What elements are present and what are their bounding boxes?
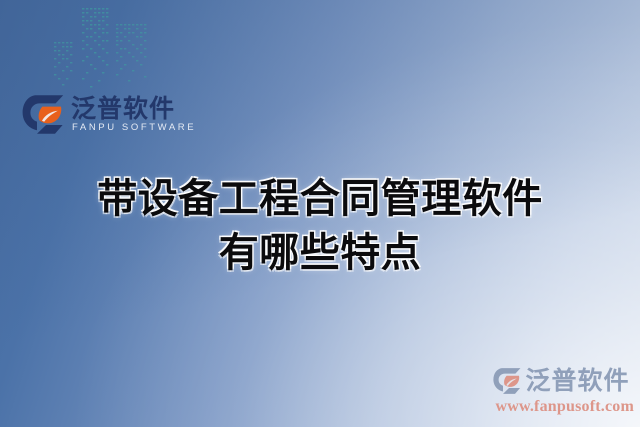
fanpu-logo-icon bbox=[493, 367, 521, 395]
watermark-name-cn: 泛普软件 bbox=[525, 369, 629, 394]
watermark: 泛普软件 www.fanpusoft.com bbox=[493, 367, 634, 415]
brand-text-block: 泛普软件 FANPU SOFTWARE bbox=[71, 96, 196, 133]
brand-name-en: FANPU SOFTWARE bbox=[71, 123, 196, 133]
brand-name-cn: 泛普软件 bbox=[71, 96, 196, 122]
brand-logo-lockup: 泛普软件 FANPU SOFTWARE bbox=[22, 94, 196, 135]
page-title-line-2: 有哪些特点 bbox=[0, 226, 640, 280]
fanpu-logo-icon bbox=[22, 94, 64, 135]
watermark-url: www.fanpusoft.com bbox=[493, 399, 634, 415]
watermark-logo-row: 泛普软件 bbox=[493, 367, 629, 395]
page-title: 带设备工程合同管理软件 有哪些特点 bbox=[0, 172, 640, 280]
promo-banner: 泛普软件 FANPU SOFTWARE 带设备工程合同管理软件 有哪些特点 泛普… bbox=[0, 0, 640, 427]
dot-matrix-bars-icon bbox=[52, 0, 152, 94]
page-title-line-1: 带设备工程合同管理软件 bbox=[0, 172, 640, 226]
